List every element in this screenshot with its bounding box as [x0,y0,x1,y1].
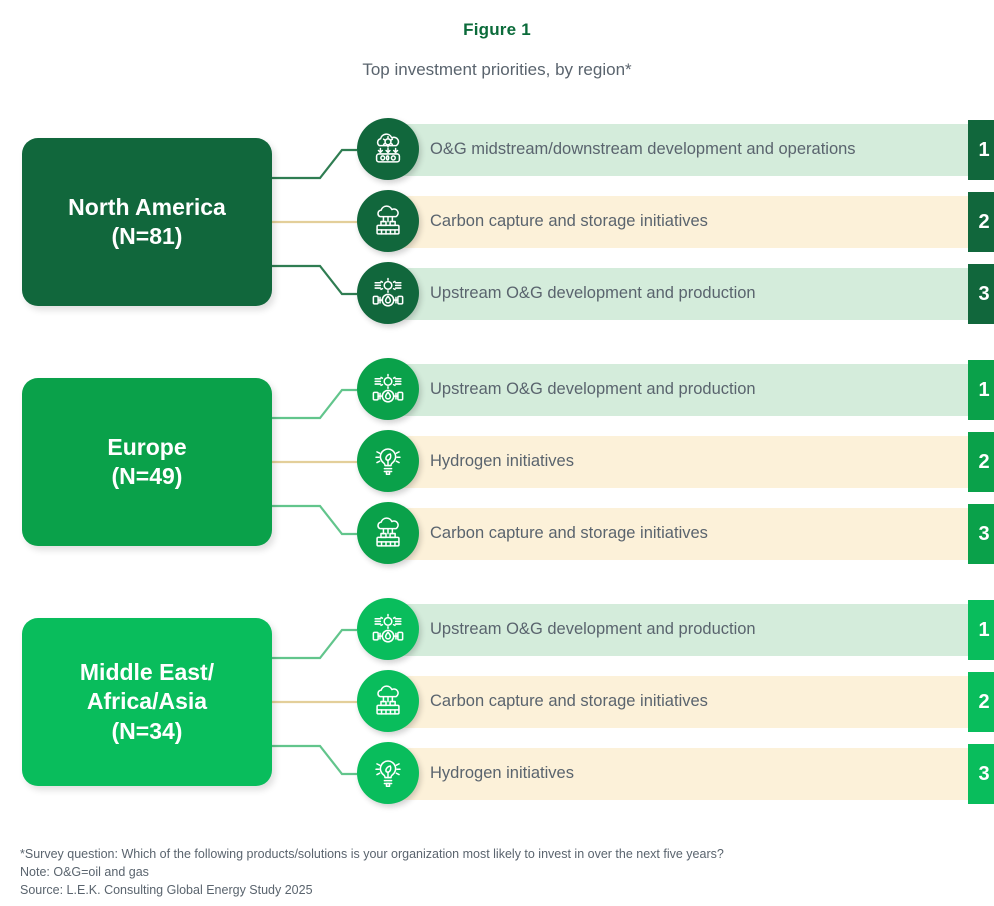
factory-cloud-icon [357,502,419,564]
priority-row-bar: Upstream O&G development and production [372,268,972,320]
rank-badge: 1 [968,600,994,660]
priority-label: Carbon capture and storage initiatives [372,211,768,232]
priority-row[interactable]: Upstream O&G development and production1 [372,364,972,416]
priority-label: Upstream O&G development and production [372,283,816,304]
factory-cloud-icon [357,670,419,732]
figure-title: Figure 1 [0,20,994,40]
region-name: North America [68,193,226,222]
bulb-leaf-icon [357,742,419,804]
region-group-middle-east-africa-asia: Middle East/ Africa/Asia(N=34)Upstream O… [0,590,994,815]
priority-row-bar: Carbon capture and storage initiatives [372,196,972,248]
rank-badge: 1 [968,120,994,180]
priority-row[interactable]: Carbon capture and storage initiatives2 [372,676,972,728]
region-box-text: Middle East/ Africa/Asia(N=34) [80,658,214,746]
priority-row[interactable]: Carbon capture and storage initiatives2 [372,196,972,248]
region-sample-size: (N=49) [107,462,186,491]
region-box[interactable]: Europe(N=49) [22,378,272,546]
factory-cloud-icon [357,190,419,252]
connector-line [266,266,357,294]
region-box-text: North America(N=81) [68,193,226,252]
priority-row-bar: Upstream O&G development and production [372,604,972,656]
region-box-text: Europe(N=49) [107,433,186,492]
figure-subtitle: Top investment priorities, by region* [0,60,994,80]
connector-line [266,506,357,534]
priority-row[interactable]: Hydrogen initiatives2 [372,436,972,488]
priority-row-bar: Carbon capture and storage initiatives [372,508,972,560]
rank-badge: 3 [968,504,994,564]
rank-badge: 2 [968,672,994,732]
footnote-survey-question: *Survey question: Which of the following… [20,845,920,863]
cloud-gear-tanks-icon [357,118,419,180]
priority-row-bar: Hydrogen initiatives [372,748,972,800]
priority-row-bar: O&G midstream/downstream development and… [372,124,972,176]
bulb-leaf-icon [357,430,419,492]
priority-label: O&G midstream/downstream development and… [372,139,916,160]
priority-label: Carbon capture and storage initiatives [372,691,768,712]
region-name: Europe [107,433,186,462]
region-box[interactable]: Middle East/ Africa/Asia(N=34) [22,618,272,786]
pipeline-valve-icon [357,262,419,324]
priority-row-bar: Hydrogen initiatives [372,436,972,488]
rank-badge: 2 [968,192,994,252]
connector-line [266,390,357,418]
region-sample-size: (N=81) [68,222,226,251]
priority-label: Upstream O&G development and production [372,619,816,640]
footnotes: *Survey question: Which of the following… [20,845,920,899]
priority-row[interactable]: Carbon capture and storage initiatives3 [372,508,972,560]
region-sample-size: (N=34) [80,717,214,746]
rank-badge: 3 [968,744,994,804]
connector-line [266,630,357,658]
footnote-note: Note: O&G=oil and gas [20,863,920,881]
rank-badge: 3 [968,264,994,324]
priority-row[interactable]: Upstream O&G development and production3 [372,268,972,320]
pipeline-valve-icon [357,598,419,660]
priority-row[interactable]: Hydrogen initiatives3 [372,748,972,800]
rank-badge: 2 [968,432,994,492]
priority-row[interactable]: Upstream O&G development and production1 [372,604,972,656]
region-name: Middle East/ Africa/Asia [80,658,214,717]
priority-label: Carbon capture and storage initiatives [372,523,768,544]
priority-row[interactable]: O&G midstream/downstream development and… [372,124,972,176]
region-group-north-america: North America(N=81)O&G midstream/downstr… [0,110,994,335]
region-box[interactable]: North America(N=81) [22,138,272,306]
priority-row-bar: Upstream O&G development and production [372,364,972,416]
connector-line [266,150,357,178]
rank-badge: 1 [968,360,994,420]
pipeline-valve-icon [357,358,419,420]
footnote-source: Source: L.E.K. Consulting Global Energy … [20,881,920,899]
priority-row-bar: Carbon capture and storage initiatives [372,676,972,728]
region-group-europe: Europe(N=49)Upstream O&G development and… [0,350,994,575]
priority-label: Upstream O&G development and production [372,379,816,400]
connector-line [266,746,357,774]
